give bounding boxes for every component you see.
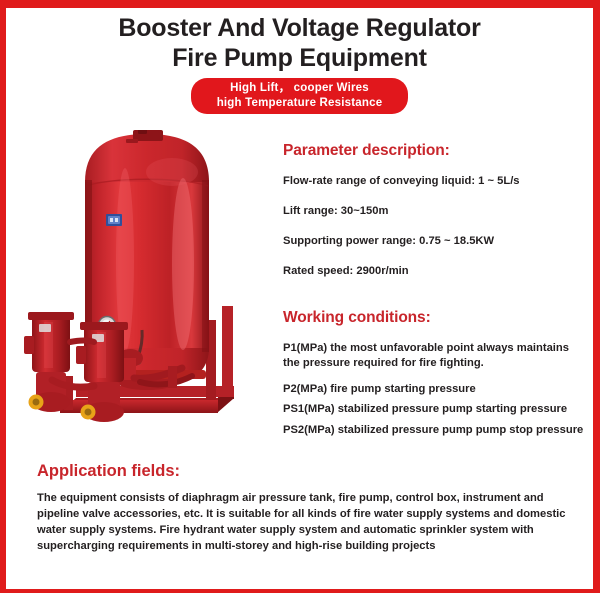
feature-badge-line-1: High Lift， cooper Wires [217, 81, 383, 96]
page-border-right [593, 0, 600, 592]
working-condition-p1: P1(MPa) the most unfavorable point alway… [283, 341, 588, 371]
working-conditions-section: Working conditions: P1(MPa) the most unf… [283, 309, 588, 438]
pressure-tank-pump-set-illustration [22, 130, 272, 442]
application-fields-body: The equipment consists of diaphragm air … [37, 491, 567, 555]
feature-badge: High Lift， cooper Wires high Temperature… [191, 78, 409, 114]
pump-right [76, 322, 128, 422]
parameter-description-section: Parameter description: Flow-rate range o… [283, 142, 583, 294]
parameter-item-power-range: Supporting power range: 0.75 ~ 18.5KW [283, 234, 583, 248]
application-fields-heading: Application fields: [37, 462, 567, 481]
working-condition-ps2: PS2(MPa) stabilized pressure pump pump s… [283, 423, 588, 438]
product-photo [22, 130, 272, 442]
product-info-page: Booster And Voltage Regulator Fire Pump … [0, 0, 600, 600]
pump-left [24, 312, 74, 412]
page-border-top [0, 0, 600, 8]
working-condition-p2: P2(MPa) fire pump starting pressure [283, 382, 588, 397]
page-title-line-1: Booster And Voltage Regulator [6, 14, 593, 44]
parameter-item-lift-range: Lift range: 30~150m [283, 204, 583, 218]
application-fields-section: Application fields: The equipment consis… [37, 462, 567, 555]
page-header: Booster And Voltage Regulator Fire Pump … [6, 14, 593, 114]
working-condition-ps1: PS1(MPa) stabilized pressure pump starti… [283, 402, 588, 417]
parameter-item-flow-rate: Flow-rate range of conveying liquid: 1 ~… [283, 174, 583, 188]
blue-nameplate [106, 214, 122, 226]
parameter-description-heading: Parameter description: [283, 142, 583, 160]
parameter-item-rated-speed: Rated speed: 2900r/min [283, 264, 583, 278]
page-border-bottom [0, 589, 600, 593]
page-title-line-2: Fire Pump Equipment [6, 44, 593, 74]
working-conditions-heading: Working conditions: [283, 309, 588, 327]
feature-badge-line-2: high Temperature Resistance [217, 96, 383, 111]
